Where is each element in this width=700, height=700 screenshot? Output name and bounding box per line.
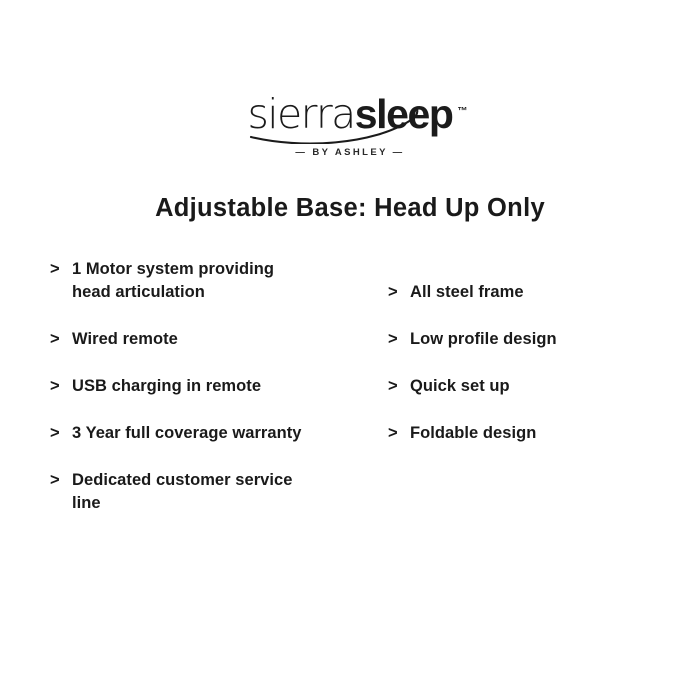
list-item: > 1 Motor system providing head articula… bbox=[50, 258, 370, 304]
list-item: > Wired remote bbox=[50, 328, 370, 351]
list-item-label: All steel frame bbox=[410, 281, 524, 304]
trademark-symbol: ™ bbox=[458, 90, 468, 134]
wordmark-sierra: sierra bbox=[247, 90, 354, 138]
list-item: > Foldable design bbox=[388, 422, 678, 445]
wordmark-text: sierrasleep ™ bbox=[247, 92, 452, 136]
bullet-marker-icon: > bbox=[50, 469, 72, 492]
list-item: > 3 Year full coverage warranty bbox=[50, 422, 370, 445]
bullet-marker-icon: > bbox=[50, 422, 72, 445]
page-title: Adjustable Base: Head Up Only bbox=[0, 194, 700, 223]
list-item-label: Wired remote bbox=[72, 328, 178, 351]
brand-byline: — BY ASHLEY — bbox=[0, 147, 700, 158]
list-item: > Dedicated customer service line bbox=[50, 469, 370, 515]
list-item-label: Dedicated customer service line bbox=[72, 469, 317, 515]
feature-list: > 1 Motor system providing head articula… bbox=[0, 258, 700, 558]
feature-column-right: > All steel frame > Low profile design >… bbox=[388, 258, 678, 469]
product-feature-card: sierrasleep ™ — BY ASHLEY — Adjustable B… bbox=[0, 0, 700, 700]
list-item: > USB charging in remote bbox=[50, 375, 370, 398]
feature-column-left: > 1 Motor system providing head articula… bbox=[50, 258, 370, 539]
list-item-label: Low profile design bbox=[410, 328, 557, 351]
bullet-marker-icon: > bbox=[388, 375, 410, 398]
bullet-marker-icon: > bbox=[50, 258, 72, 281]
list-item: > All steel frame bbox=[388, 281, 678, 304]
list-item: > Low profile design bbox=[388, 328, 678, 351]
list-item-label: 1 Motor system providing head articulati… bbox=[72, 258, 317, 304]
brand-logo: sierrasleep ™ — BY ASHLEY — bbox=[0, 92, 700, 158]
bullet-marker-icon: > bbox=[50, 328, 72, 351]
bullet-marker-icon: > bbox=[50, 375, 72, 398]
brand-wordmark: sierrasleep ™ bbox=[247, 92, 452, 138]
list-item-label: 3 Year full coverage warranty bbox=[72, 422, 302, 445]
list-item-label: Foldable design bbox=[410, 422, 536, 445]
bullet-marker-icon: > bbox=[388, 328, 410, 351]
list-item: > Quick set up bbox=[388, 375, 678, 398]
wordmark-sleep: sleep bbox=[355, 91, 453, 137]
bullet-marker-icon: > bbox=[388, 422, 410, 445]
list-item-label: USB charging in remote bbox=[72, 375, 261, 398]
bullet-marker-icon: > bbox=[388, 281, 410, 304]
list-item-label: Quick set up bbox=[410, 375, 510, 398]
